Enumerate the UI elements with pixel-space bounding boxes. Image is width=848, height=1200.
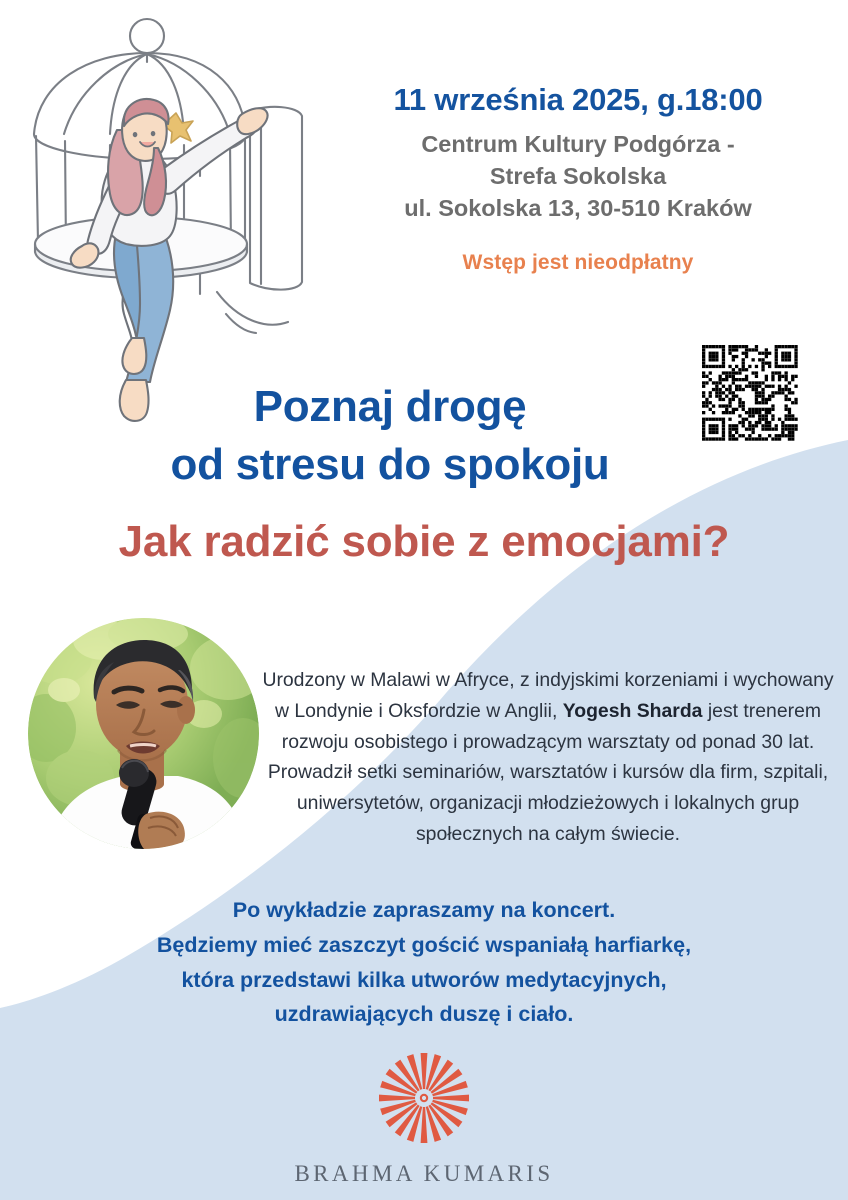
sunburst-icon xyxy=(376,1050,472,1146)
free-entry-note: Wstęp jest nieodpłatny xyxy=(318,251,838,275)
concert-line-4: uzdrawiających duszę i ciało. xyxy=(64,997,784,1032)
title-line-2: od stresu do spokoju xyxy=(60,436,720,494)
qr-code-image xyxy=(688,344,816,446)
concert-line-1: Po wykładzie zapraszamy na koncert. xyxy=(64,893,784,928)
organization-name: BRAHMA KUMARIS xyxy=(0,1161,848,1187)
speaker-photo xyxy=(28,618,259,849)
venue-address: ul. Sokolska 13, 30-510 Kraków xyxy=(318,192,838,224)
title-line-1: Poznaj drogę xyxy=(60,378,720,436)
concert-announcement: Po wykładzie zapraszamy na koncert. Będz… xyxy=(64,893,784,1032)
speaker-bio: Urodzony w Malawi w Afryce, z indyjskimi… xyxy=(256,665,840,849)
page-title: Poznaj drogę od stresu do spokoju xyxy=(60,378,720,494)
venue-line-1: Centrum Kultury Podgórza - xyxy=(318,128,838,160)
concert-line-2: Będziemy mieć zaszczyt gościć wspaniałą … xyxy=(64,928,784,963)
organization-logo: BRAHMA KUMARIS xyxy=(0,1050,848,1187)
event-header: 11 września 2025, g.18:00 Centrum Kultur… xyxy=(318,82,838,275)
woman-escaping-birdcage-illustration xyxy=(14,8,314,428)
page-subtitle: Jak radzić sobie z emocjami? xyxy=(18,516,830,569)
event-datetime: 11 września 2025, g.18:00 xyxy=(318,82,838,118)
poster-root: 11 września 2025, g.18:00 Centrum Kultur… xyxy=(0,0,848,1200)
qr-code[interactable] xyxy=(686,343,817,447)
event-venue: Centrum Kultury Podgórza - Strefa Sokols… xyxy=(318,128,838,225)
speaker-name: Yogesh Sharda xyxy=(563,700,703,722)
venue-line-2: Strefa Sokolska xyxy=(318,160,838,192)
concert-line-3: która przedstawi kilka utworów medytacyj… xyxy=(64,963,784,998)
